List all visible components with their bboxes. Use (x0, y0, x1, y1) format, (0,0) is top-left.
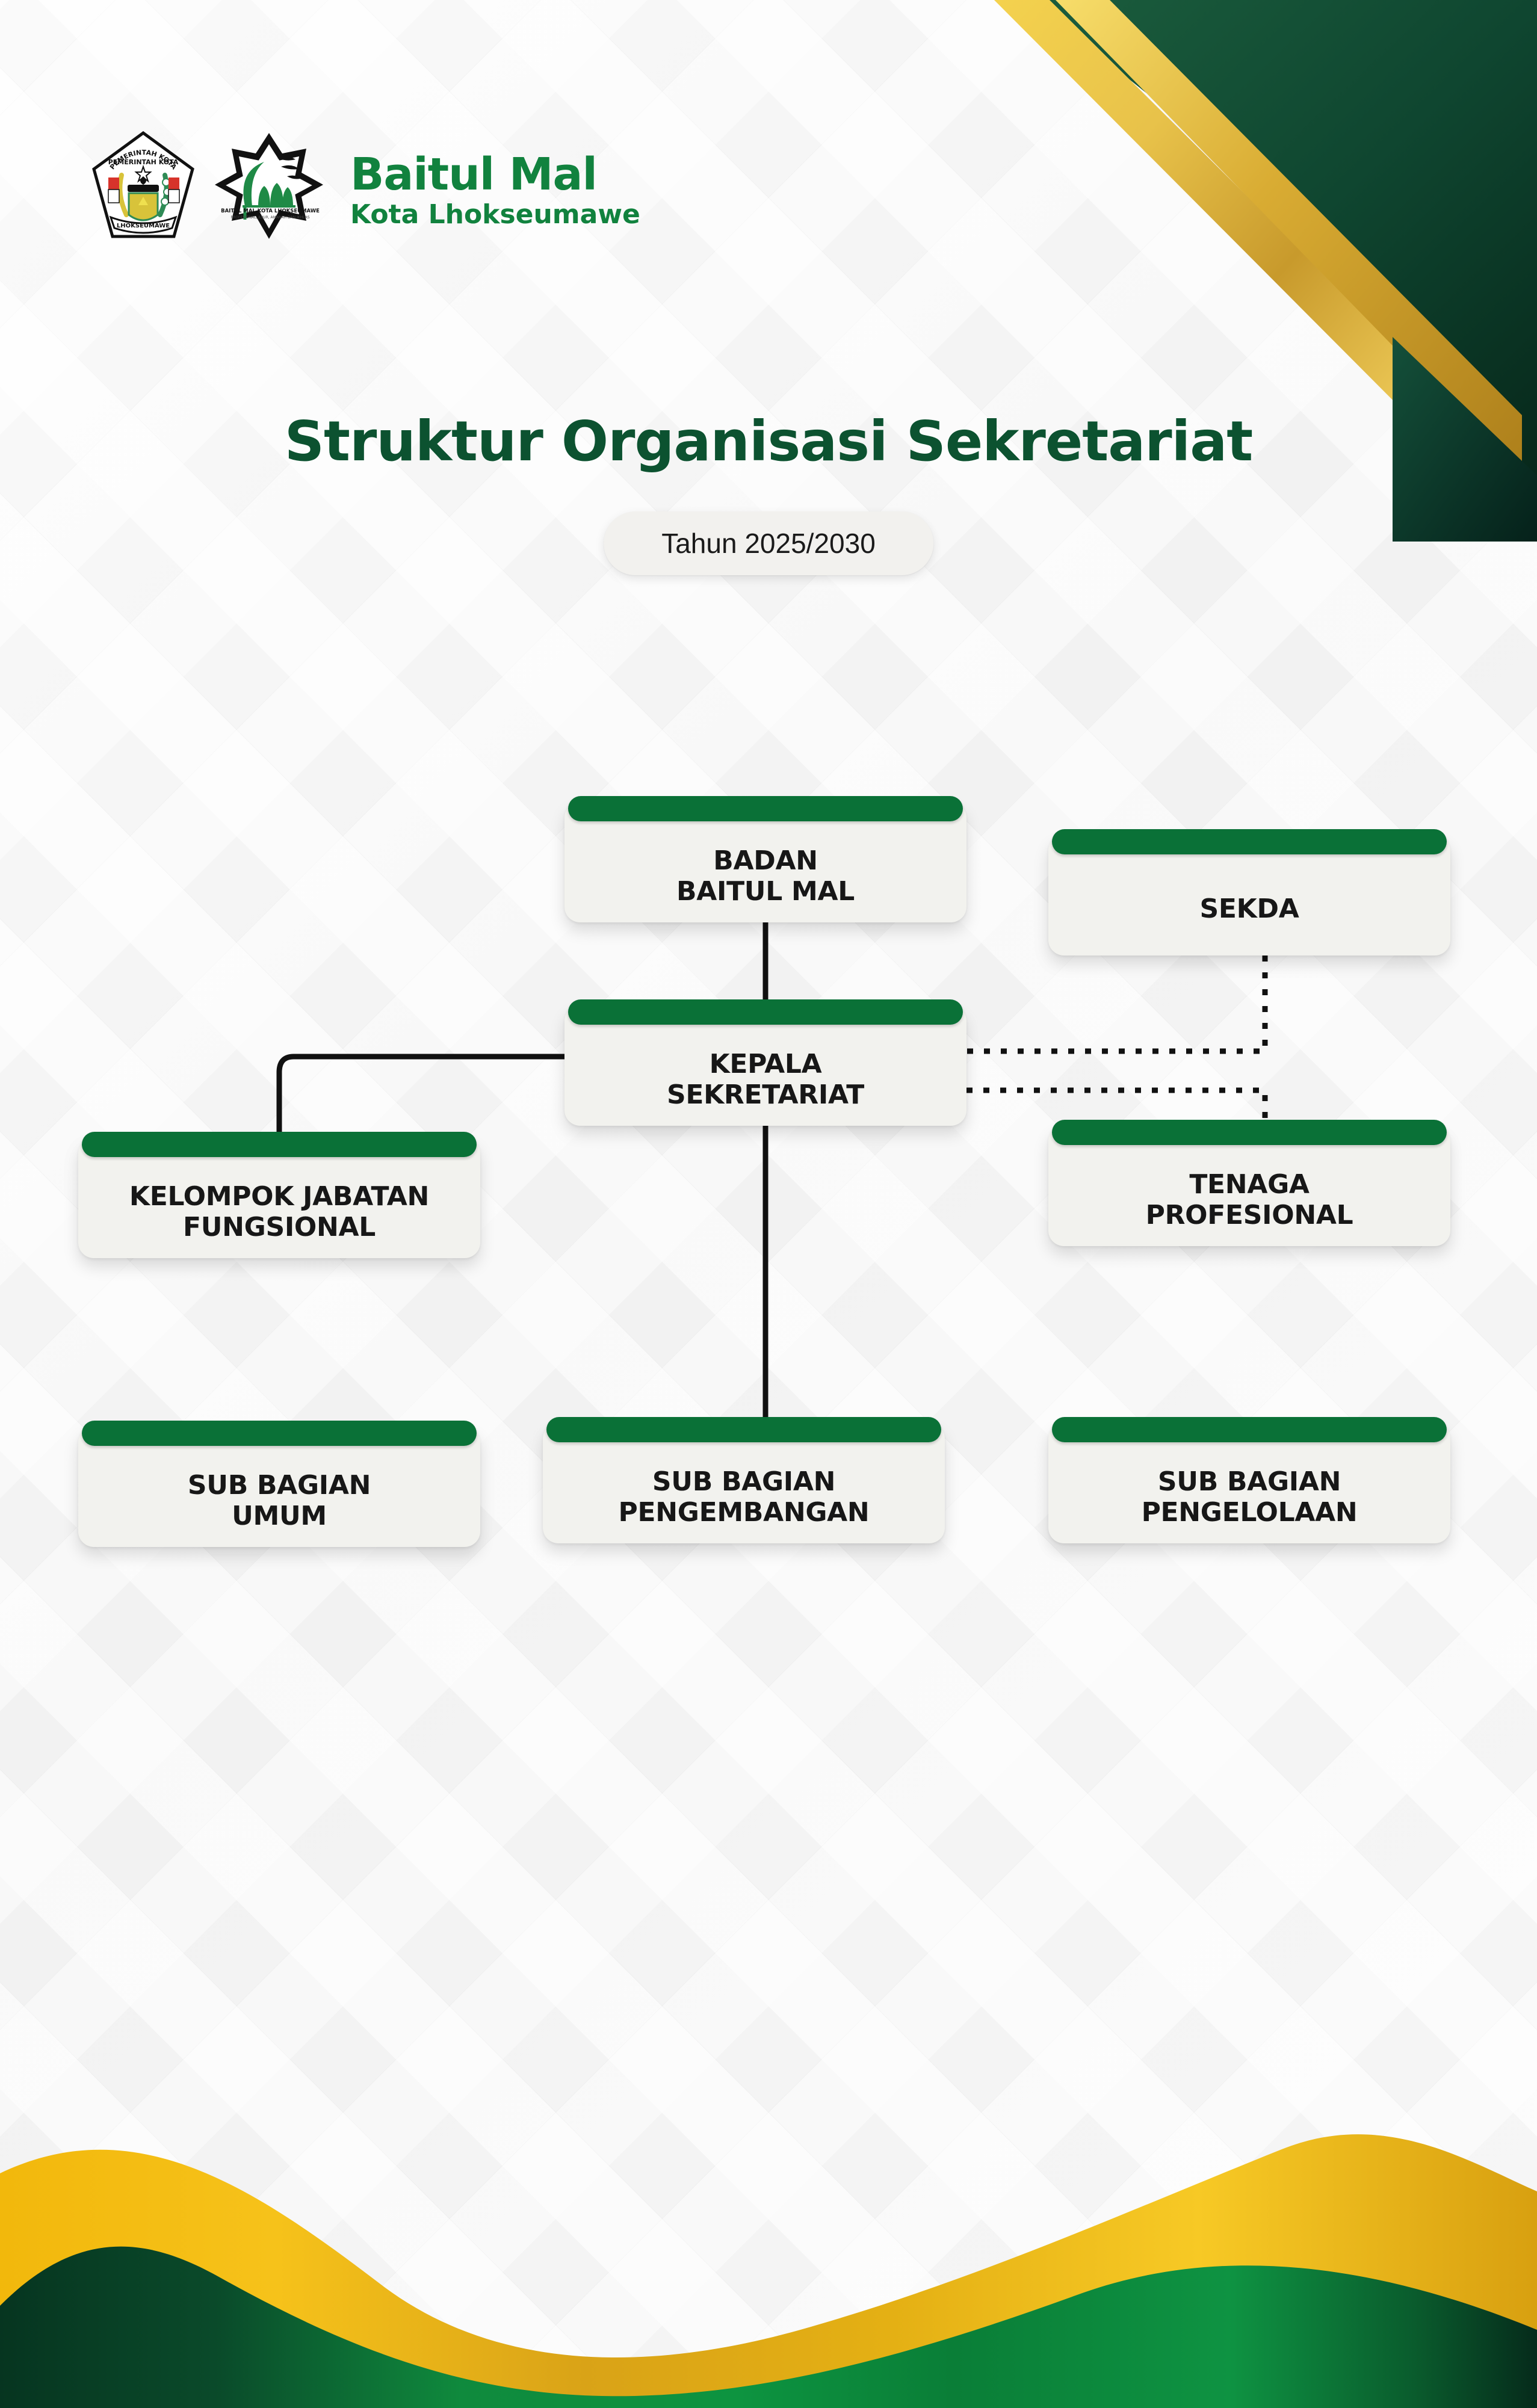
node-cap (568, 796, 963, 821)
node-label: SUB BAGIAN PENGEMBANGAN (609, 1466, 879, 1528)
node-kepala-sekretariat[interactable]: KEPALA SEKRETARIAT (564, 1005, 966, 1126)
node-sub-bagian-pengembangan[interactable]: SUB BAGIAN PENGEMBANGAN (543, 1423, 945, 1543)
node-cap (82, 1421, 477, 1446)
node-cap (1052, 1417, 1447, 1442)
node-kelompok-jabatan-fungsional[interactable]: KELOMPOK JABATAN FUNGSIONAL (78, 1138, 480, 1258)
node-label: SUB BAGIAN PENGELOLAAN (1132, 1466, 1367, 1528)
node-label: TENAGA PROFESIONAL (1136, 1169, 1363, 1230)
node-cap (1052, 829, 1447, 854)
node-badan-baitul-mal[interactable]: BADAN BAITUL MAL (564, 802, 966, 922)
edge-sekda-to-kepala (966, 955, 1265, 1051)
node-sub-bagian-pengelolaan[interactable]: SUB BAGIAN PENGELOLAAN (1048, 1423, 1450, 1543)
poster-canvas: PEMERINTAH KOTA PEMERINTAH KOTA (0, 0, 1537, 2408)
node-label: SUB BAGIAN UMUM (178, 1470, 380, 1531)
node-label: SEKDA (1190, 894, 1309, 924)
node-label: KELOMPOK JABATAN FUNGSIONAL (120, 1181, 439, 1243)
node-cap (546, 1417, 941, 1442)
node-tenaga-profesional[interactable]: TENAGA PROFESIONAL (1048, 1126, 1450, 1246)
node-sekda[interactable]: SEKDA (1048, 835, 1450, 955)
node-cap (82, 1132, 477, 1157)
edge-kepala-to-kelompok (279, 1057, 564, 1141)
node-cap (568, 999, 963, 1025)
org-chart: BADAN BAITUL MAL SEKDA KEPALA SEKRETARIA… (0, 0, 1537, 2408)
node-cap (1052, 1120, 1447, 1145)
node-label: KEPALA SEKRETARIAT (657, 1049, 874, 1110)
node-label: BADAN BAITUL MAL (667, 845, 864, 907)
node-sub-bagian-umum[interactable]: SUB BAGIAN UMUM (78, 1427, 480, 1547)
